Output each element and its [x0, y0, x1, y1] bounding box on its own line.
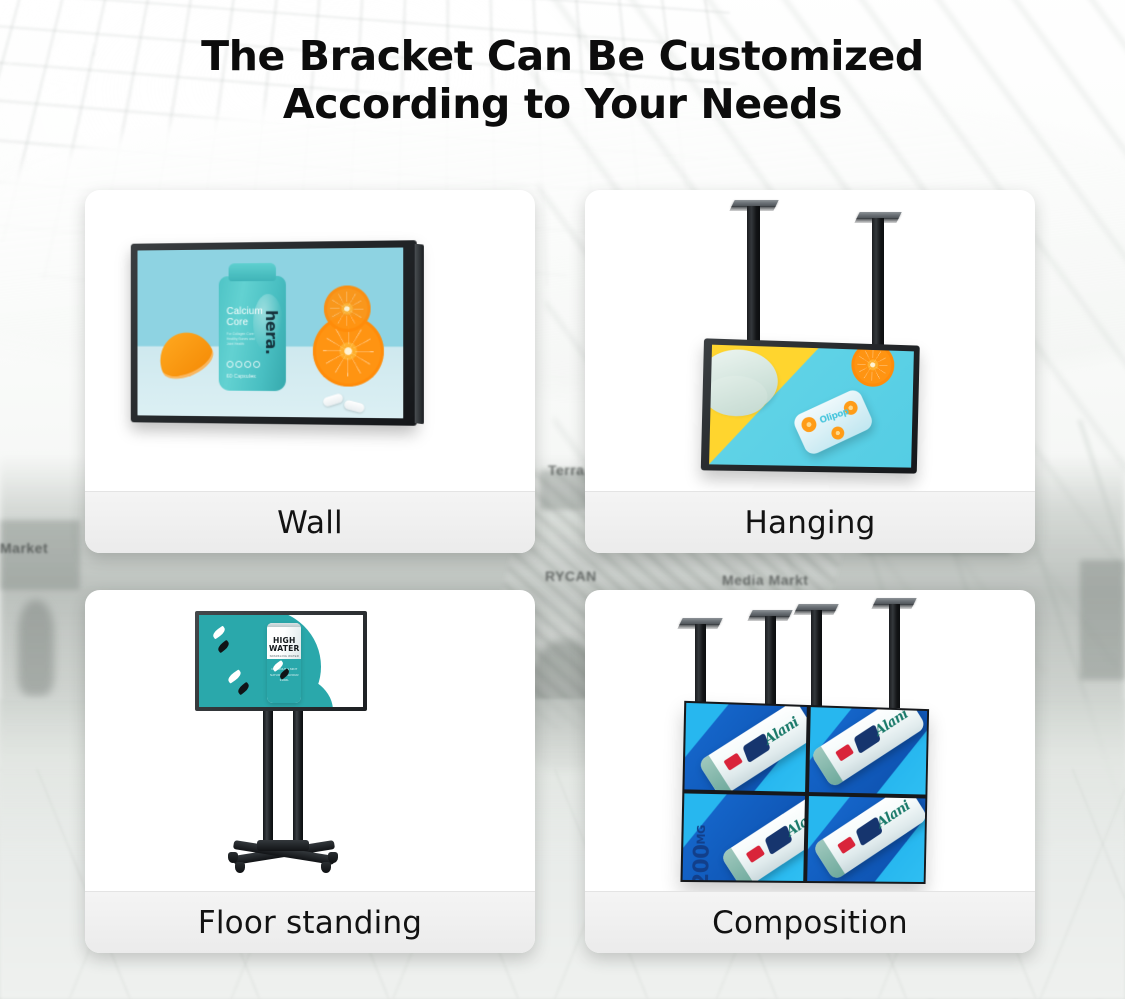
hanging-display: Olipop: [701, 338, 920, 473]
video-wall-2x2: Alani Alani 200MG: [680, 701, 929, 884]
floor-stand-display: HIGH WATER SPARKLING WATER COCONUT & MIN…: [195, 611, 367, 711]
orange-slice: [799, 414, 819, 434]
card-hanging[interactable]: Olipop Hanging: [585, 190, 1035, 553]
card-composition-label: Composition: [712, 905, 908, 941]
can-product-name: HIGH WATER: [267, 637, 301, 653]
card-hanging-label: Hanging: [745, 505, 876, 541]
card-floor-label: Floor standing: [198, 905, 422, 941]
wall-mounted-display: Calcium Core For Collagen Core Healthy B…: [131, 240, 417, 426]
product-name-line-2: Core: [227, 317, 249, 328]
orange-slice: [829, 424, 846, 441]
supplement-bottle: Calcium Core For Collagen Core Healthy B…: [219, 276, 286, 391]
ceiling-pole: [695, 624, 706, 712]
cert-icon: [235, 361, 242, 368]
cert-icon: [227, 361, 234, 368]
video-wall-tile-1: Alani: [682, 701, 808, 794]
can-name-line-2: WATER: [269, 644, 300, 653]
capsule: [322, 392, 344, 407]
product-name-line-1: Calcium: [227, 306, 263, 317]
brand-name: hera.: [262, 310, 281, 355]
storefront-pillar: [1080, 560, 1125, 680]
capsule-count: 60 Capsules: [227, 374, 257, 380]
video-wall-tile-3: 200MG Alani: [680, 791, 807, 883]
ceiling-pole: [872, 218, 884, 350]
product-description: For Collagen Core Healthy Bones and Join…: [227, 332, 262, 347]
card-floor-standing[interactable]: HIGH WATER SPARKLING WATER COCONUT & MIN…: [85, 590, 535, 953]
can-brand-script: Alani: [872, 706, 911, 739]
card-wall-footer: Wall: [85, 491, 535, 553]
can-brand-script: Alani: [874, 798, 913, 832]
card-floor-illustration: HIGH WATER SPARKLING WATER COCONUT & MIN…: [85, 590, 535, 891]
title-line-1: The Bracket Can Be Customized: [0, 32, 1125, 80]
stand-pole-right: [293, 711, 303, 851]
card-composition[interactable]: Alani Alani 200MG: [585, 590, 1035, 953]
storefront-sign-mediamarkt: Media Markt: [722, 572, 808, 588]
display-screen: Olipop: [709, 345, 914, 468]
storefront-sign-market: Market: [0, 540, 48, 556]
display-side-depth: [415, 244, 424, 425]
card-hanging-illustration: Olipop: [585, 190, 1035, 491]
sparkling-water-can: HIGH WATER SPARKLING WATER COCONUT & MIN…: [267, 623, 301, 703]
card-wall-illustration: Calcium Core For Collagen Core Healthy B…: [85, 190, 535, 491]
base-hub: [257, 840, 309, 851]
burst-icon: [696, 807, 717, 820]
can-red-badge: [745, 845, 764, 863]
can-red-badge: [837, 836, 856, 854]
video-wall-tile-2: Alani: [807, 705, 929, 797]
caster-wheel: [328, 852, 338, 863]
certification-icons: [227, 361, 260, 368]
caster-wheel: [235, 862, 245, 873]
page-title: The Bracket Can Be Customized According …: [0, 32, 1125, 129]
cert-icon: [244, 361, 251, 368]
caster-wheel: [321, 862, 331, 873]
product-name: Calcium Core: [227, 306, 263, 328]
caffeine-callout: 200MG: [691, 825, 714, 883]
can-top: [267, 623, 301, 627]
can-tagline: SPARKLING WATER: [267, 654, 301, 658]
display-screen: Calcium Core For Collagen Core Healthy B…: [137, 247, 403, 418]
capsule-count-text: 60 Capsules: [227, 374, 257, 380]
caffeine-unit: MG: [695, 825, 709, 844]
card-composition-illustration: Alani Alani 200MG: [585, 590, 1035, 891]
card-floor-footer: Floor standing: [85, 891, 535, 953]
orange-whole: [324, 285, 371, 332]
ceiling-pole: [811, 610, 822, 708]
card-composition-footer: Composition: [585, 891, 1035, 953]
storefront-sign-rycan: RYCAN: [545, 568, 597, 584]
can-red-badge: [723, 752, 743, 770]
cert-icon: [253, 361, 260, 368]
card-wall[interactable]: Calcium Core For Collagen Core Healthy B…: [85, 190, 535, 553]
caffeine-value: 200: [689, 844, 714, 883]
orange-half: [313, 316, 384, 387]
can-brand: Olipop: [818, 407, 850, 426]
can-brand-script: Alani: [761, 714, 801, 748]
display-screen: HIGH WATER SPARKLING WATER COCONUT & MIN…: [199, 615, 363, 707]
can-red-badge: [835, 743, 854, 761]
stand-pole-left: [263, 711, 273, 851]
ceiling-pole: [747, 206, 760, 346]
storefront-sign-terra: Terra: [548, 462, 584, 478]
can-lower-band: COCONUT & MINT NATURAL FLAVOUR 330ML: [267, 659, 301, 703]
title-line-2: According to Your Needs: [0, 80, 1125, 128]
card-wall-label: Wall: [277, 505, 343, 541]
bottle-cap: [228, 263, 275, 281]
ceiling-pole: [765, 616, 776, 710]
video-wall-tile-4: Alani: [805, 794, 927, 884]
ceiling-pole: [889, 604, 900, 708]
infographic-root: Terra RYCAN Media Markt Market The Brack…: [0, 0, 1125, 999]
card-hanging-footer: Hanging: [585, 491, 1035, 553]
capsule: [344, 400, 366, 414]
shopper-silhouette: [18, 600, 54, 696]
